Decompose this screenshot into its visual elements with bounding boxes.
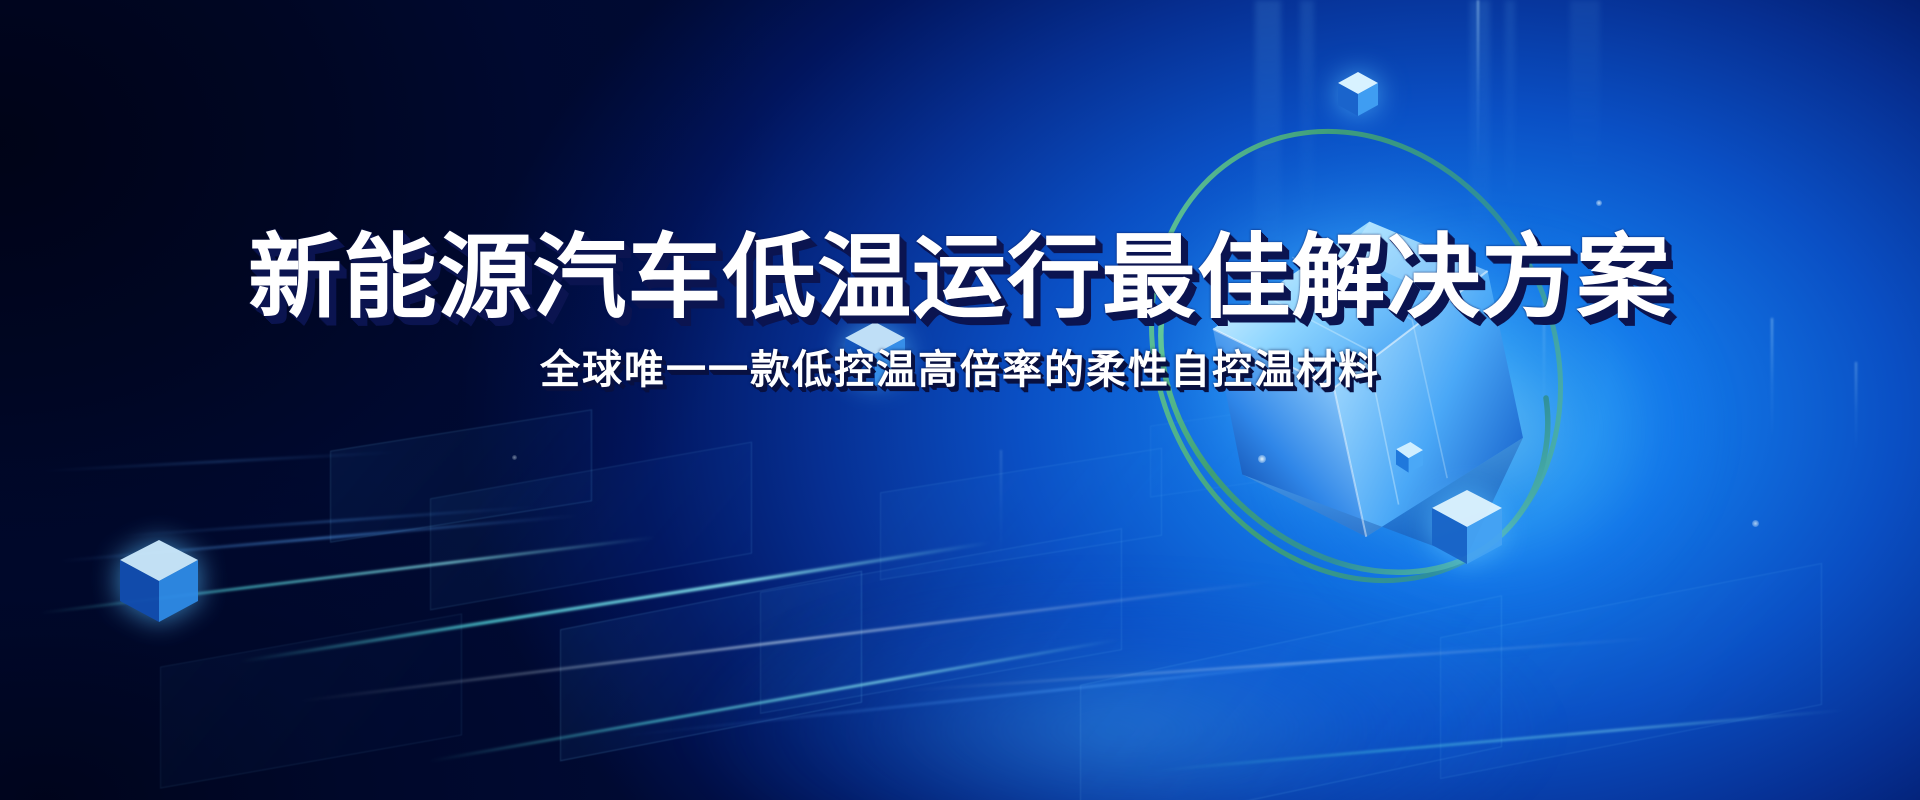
floating-cube — [1338, 72, 1378, 116]
floating-cube — [120, 540, 198, 622]
sparkle — [1258, 455, 1266, 463]
sparkle — [1752, 520, 1759, 527]
hero-banner: 新能源汽车低温运行最佳解决方案 全球唯一一款低控温高倍率的柔性自控温材料 — [0, 0, 1920, 800]
floating-cube — [1432, 490, 1502, 564]
sparkle — [1596, 200, 1602, 206]
floating-cube — [845, 322, 905, 386]
crystal-graphic — [1080, 80, 1640, 640]
sparkle — [512, 455, 517, 460]
light-beam — [1855, 362, 1857, 452]
light-beam — [1771, 318, 1773, 438]
